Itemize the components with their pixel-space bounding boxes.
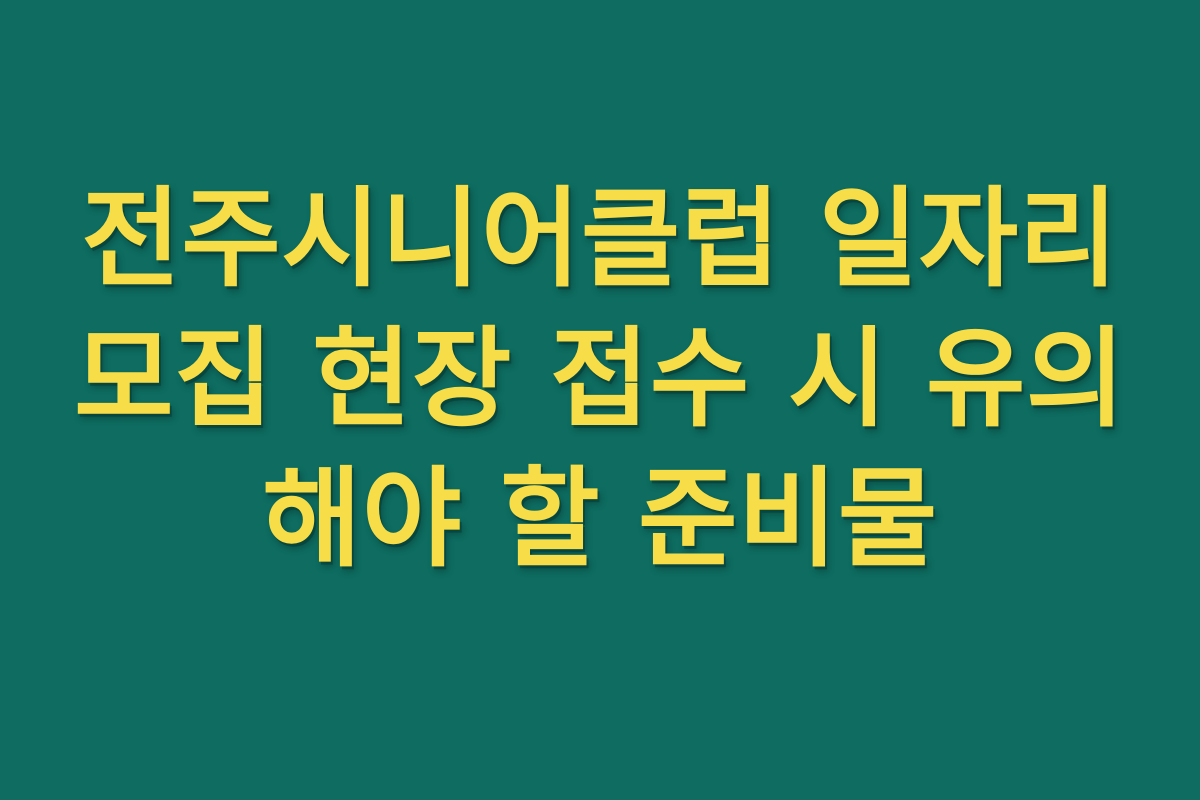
headline-block: 전주시니어클럽 일자리 모집 현장 접수 시 유의 해야 할 준비물 — [0, 170, 1200, 590]
title-card: 전주시니어클럽 일자리 모집 현장 접수 시 유의 해야 할 준비물 — [0, 0, 1200, 800]
headline-line-2: 모집 현장 접수 시 유의 — [40, 310, 1160, 450]
headline-line-1: 전주시니어클럽 일자리 — [40, 170, 1160, 310]
headline-line-3: 해야 할 준비물 — [40, 450, 1160, 590]
